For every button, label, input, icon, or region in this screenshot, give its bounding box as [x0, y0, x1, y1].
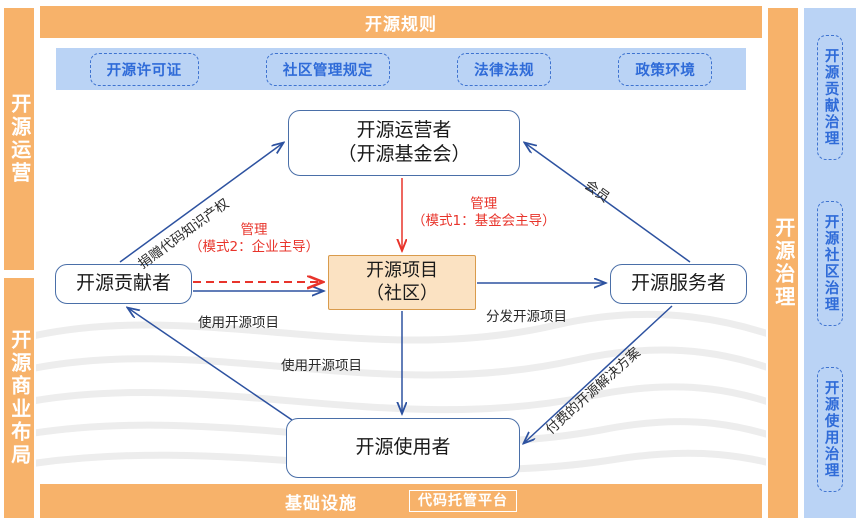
node-contributor-label: 开源贡献者 [76, 272, 171, 296]
node-service-label: 开源服务者 [631, 272, 726, 296]
node-open-source-user[interactable]: 开源使用者 [286, 418, 520, 478]
node-operator-line2: （开源基金会） [337, 143, 470, 167]
node-user-label: 开源使用者 [355, 436, 450, 460]
node-open-source-service-provider[interactable]: 开源服务者 [610, 264, 747, 304]
node-project-line2: （社区） [366, 283, 438, 306]
node-open-source-contributor[interactable]: 开源贡献者 [55, 264, 192, 304]
edge-label-manage-mode1: 管理 （模式1：基金会主导） [412, 196, 556, 230]
node-project-line1: 开源项目 [366, 260, 438, 283]
node-open-source-operator[interactable]: 开源运营者 （开源基金会） [288, 110, 520, 176]
edge-label-use-project-left: 使用开源项目 [198, 311, 279, 331]
edge-label-manage-mode2-line2: （模式2：企业主导） [189, 239, 319, 256]
edge-label-distribute-project: 分发开源项目 [486, 305, 567, 325]
node-open-source-project[interactable]: 开源项目 （社区） [328, 255, 476, 310]
diagram-canvas: 开源运营 开源商业布局 开源治理 开源规则 基础设施 代码托管平台 开源许可证 … [0, 0, 864, 525]
edge-label-manage-mode2-line1: 管理 [189, 222, 319, 239]
edge-label-use-project-mid: 使用开源项目 [281, 354, 362, 374]
edge-label-manage-mode1-line2: （模式1：基金会主导） [412, 213, 556, 230]
edge-label-manage-mode1-line1: 管理 [412, 196, 556, 213]
node-operator-line1: 开源运营者 [337, 119, 470, 143]
edge-label-manage-mode2: 管理 （模式2：企业主导） [189, 222, 319, 256]
